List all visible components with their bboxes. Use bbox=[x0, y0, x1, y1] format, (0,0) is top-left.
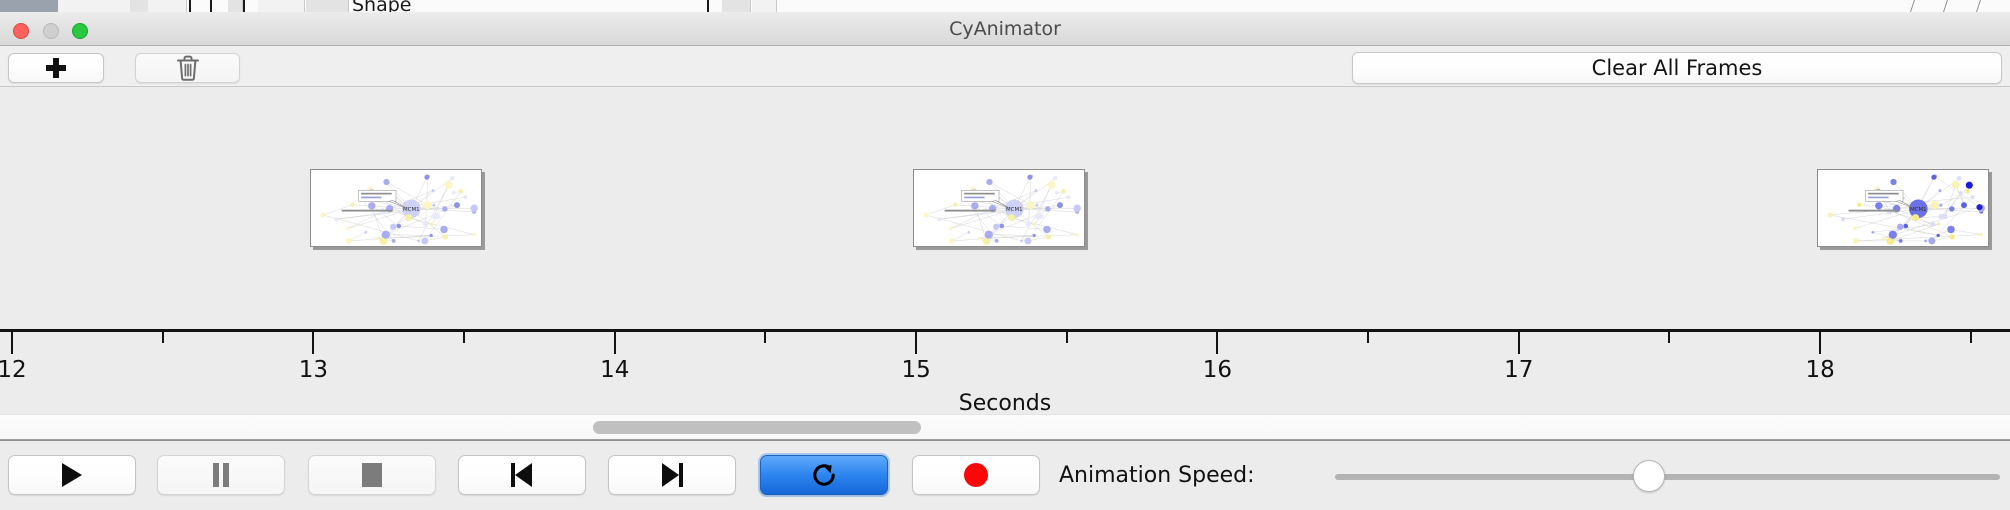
loop-button[interactable] bbox=[760, 455, 888, 495]
window-title: CyAnimator bbox=[0, 12, 2010, 46]
ruler-tick-major bbox=[915, 332, 917, 354]
skip-forward-button[interactable] bbox=[608, 455, 736, 495]
ruler-tick-label: 12 bbox=[0, 357, 27, 383]
trash-icon bbox=[175, 54, 201, 82]
timeline-scrollbar-thumb[interactable] bbox=[593, 421, 921, 434]
ruler-tick-major bbox=[614, 332, 616, 354]
slider-thumb[interactable] bbox=[1633, 460, 1665, 492]
ruler-tick-label: 15 bbox=[901, 357, 930, 383]
frame-network-preview: MCM1 bbox=[914, 170, 1084, 246]
stop-icon bbox=[362, 463, 382, 487]
toolbar: Clear All Frames bbox=[0, 46, 2010, 87]
ruler-tick-major bbox=[1216, 332, 1218, 354]
ruler-tick-label: 16 bbox=[1203, 357, 1232, 383]
delete-frame-button[interactable] bbox=[135, 53, 240, 83]
ruler-tick-label: 14 bbox=[600, 357, 629, 383]
plus-icon bbox=[46, 58, 66, 78]
titlebar: CyAnimator bbox=[0, 12, 2010, 46]
stop-button[interactable] bbox=[308, 455, 436, 495]
frames-panel[interactable]: MCM1MCM1MCM1 bbox=[0, 87, 2010, 329]
record-icon bbox=[964, 463, 988, 487]
ruler-tick-minor bbox=[1970, 332, 1972, 343]
ruler-tick-label: 13 bbox=[299, 357, 328, 383]
svg-text:MCM1: MCM1 bbox=[1910, 207, 1927, 213]
ruler-tick-minor bbox=[1668, 332, 1670, 343]
frame-network-preview: MCM1 bbox=[1818, 170, 1988, 246]
add-frame-button[interactable] bbox=[8, 53, 104, 83]
clear-all-frames-button[interactable]: Clear All Frames bbox=[1352, 52, 2002, 84]
ruler-tick-minor bbox=[463, 332, 465, 343]
frame-network-preview: MCM1 bbox=[311, 170, 481, 246]
ruler-tick-minor bbox=[764, 332, 766, 343]
playback-controls: Animation Speed: bbox=[0, 440, 2010, 510]
svg-text:MCM1: MCM1 bbox=[403, 207, 420, 213]
ruler-tick-minor bbox=[1066, 332, 1068, 343]
cyanimator-window: Shape CyAnimator Clear All Frames bbox=[0, 0, 2010, 510]
ruler-baseline bbox=[0, 329, 2010, 332]
svg-text:MCM1: MCM1 bbox=[1006, 207, 1023, 213]
ruler-tick-major bbox=[11, 332, 13, 354]
record-button[interactable] bbox=[912, 455, 1040, 495]
clear-all-frames-label: Clear All Frames bbox=[1592, 56, 1763, 80]
slider-track bbox=[1335, 474, 2000, 480]
skip-forward-icon bbox=[660, 463, 684, 487]
ruler-tick-major bbox=[312, 332, 314, 354]
pause-button[interactable] bbox=[157, 455, 285, 495]
ruler-tick-major bbox=[1819, 332, 1821, 354]
pause-icon bbox=[212, 463, 230, 487]
ruler-tick-label: 17 bbox=[1504, 357, 1533, 383]
animation-speed-slider[interactable] bbox=[1335, 469, 2000, 483]
frame-thumbnail[interactable]: MCM1 bbox=[310, 169, 482, 247]
frame-thumbnail[interactable]: MCM1 bbox=[913, 169, 1085, 247]
loop-icon bbox=[810, 461, 838, 489]
ruler-tick-minor bbox=[162, 332, 164, 343]
ruler-tick-minor bbox=[1367, 332, 1369, 343]
axis-title: Seconds bbox=[0, 391, 2010, 416]
timeline-scrollbar-track[interactable] bbox=[0, 414, 2010, 440]
frame-thumbnail[interactable]: MCM1 bbox=[1817, 169, 1989, 247]
ruler-tick-label: 18 bbox=[1806, 357, 1835, 383]
skip-back-button[interactable] bbox=[458, 455, 586, 495]
skip-back-icon bbox=[510, 463, 534, 487]
ruler-tick-major bbox=[1518, 332, 1520, 354]
play-button[interactable] bbox=[8, 455, 136, 495]
animation-speed-label: Animation Speed: bbox=[1059, 441, 1255, 510]
play-icon bbox=[62, 463, 82, 487]
